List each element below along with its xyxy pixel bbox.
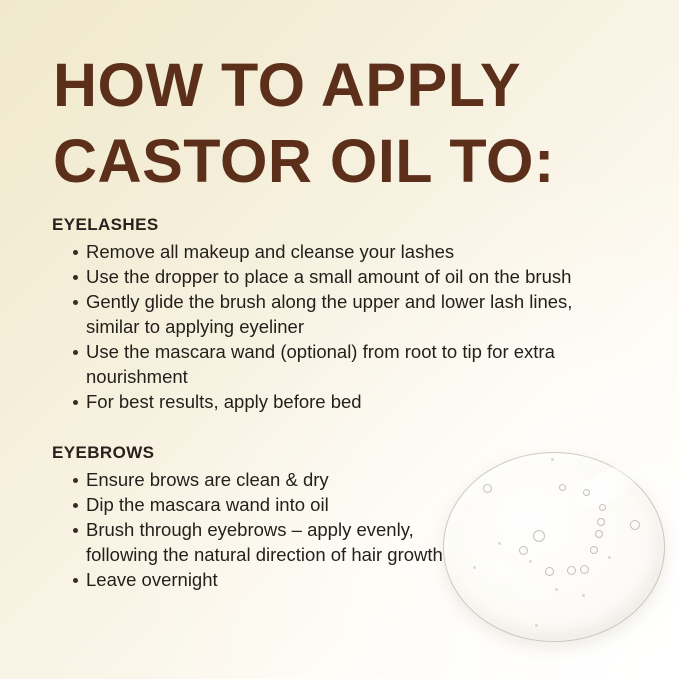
list-item: Gently glide the brush along the upper a… — [52, 289, 618, 339]
list-item: Use the mascara wand (optional) from roo… — [52, 339, 618, 389]
poster-canvas: HOW TO APPLY CASTOR OIL TO: EYELASHES Re… — [0, 0, 679, 679]
droplet-speck — [535, 624, 538, 627]
section-eyelashes: EYELASHES Remove all makeup and cleanse … — [52, 214, 618, 414]
eyebrows-step-list: Ensure brows are clean & dry Dip the mas… — [52, 467, 618, 592]
list-item: Brush through eyebrows – apply evenly, f… — [52, 517, 458, 567]
list-item: For best results, apply before bed — [52, 389, 618, 414]
list-item: Ensure brows are clean & dry — [52, 467, 458, 492]
list-item: Use the dropper to place a small amount … — [52, 264, 618, 289]
instructions-content: EYELASHES Remove all makeup and cleanse … — [52, 214, 618, 592]
droplet-bubble — [630, 520, 640, 530]
eyelashes-step-list: Remove all makeup and cleanse your lashe… — [52, 239, 618, 414]
list-item: Remove all makeup and cleanse your lashe… — [52, 239, 618, 264]
section-title-eyebrows: EYEBROWS — [52, 442, 618, 464]
section-eyebrows: EYEBROWS Ensure brows are clean & dry Di… — [52, 442, 618, 592]
list-item: Dip the mascara wand into oil — [52, 492, 458, 517]
droplet-speck — [582, 594, 585, 597]
section-title-eyelashes: EYELASHES — [52, 214, 618, 236]
page-title: HOW TO APPLY CASTOR OIL TO: — [53, 47, 653, 199]
page-title-line-2: CASTOR OIL TO: — [53, 123, 653, 199]
page-title-line-1: HOW TO APPLY — [53, 47, 653, 123]
list-item: Leave overnight — [52, 567, 458, 592]
